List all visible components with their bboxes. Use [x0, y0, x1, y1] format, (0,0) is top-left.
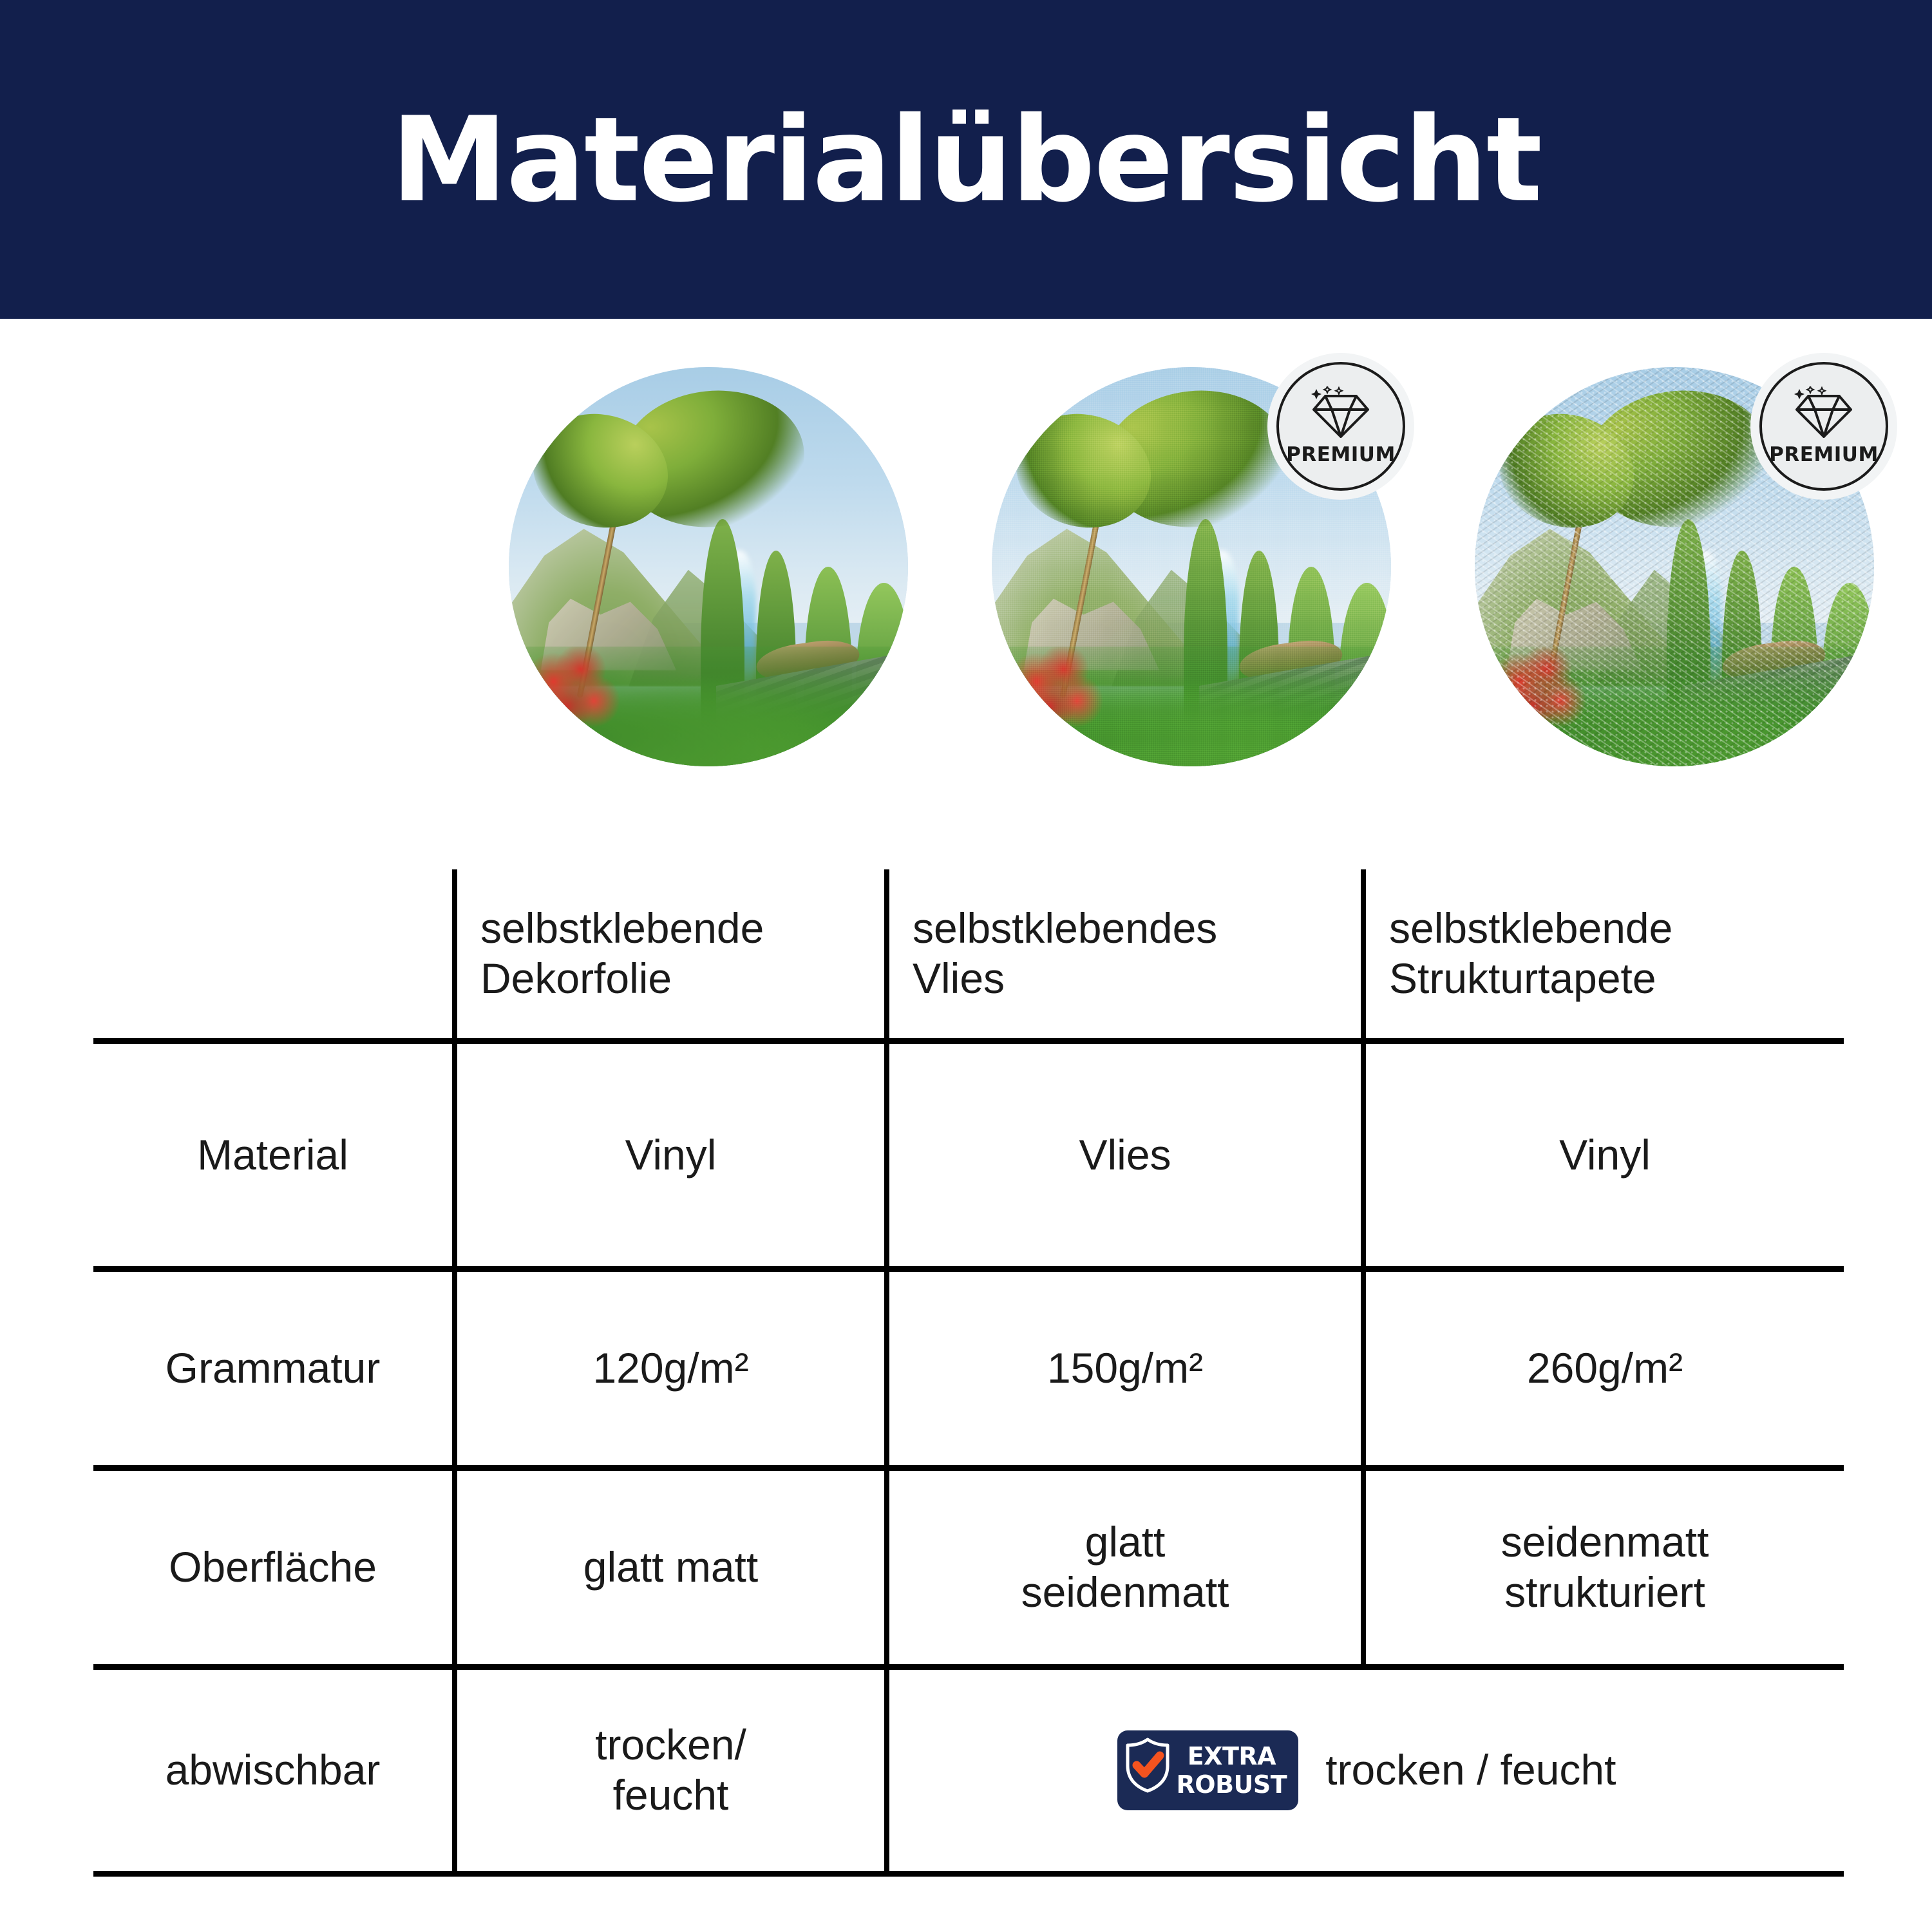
extra-robust-wordmark: EXTRA ROBUST	[1177, 1744, 1287, 1797]
premium-badge: PREMIUM	[1276, 362, 1405, 491]
cell-line1: trocken/	[595, 1720, 746, 1770]
tropical-garden-photo	[509, 367, 908, 766]
cell-line1: glatt	[1021, 1517, 1229, 1567]
column-header-vlies: selbstklebendes Vlies	[884, 869, 1361, 1038]
extra-robust-line1: EXTRA	[1177, 1744, 1287, 1768]
shield-check-icon	[1124, 1737, 1171, 1804]
red-flowers	[525, 647, 621, 734]
cell-oberflaeche-strukturtapete: seidenmatt strukturiert	[1361, 1471, 1844, 1664]
column-header-dekorfolie: selbstklebende Dekorfolie	[452, 869, 884, 1038]
diamond-icon	[1310, 386, 1372, 440]
premium-badge: PREMIUM	[1759, 362, 1888, 491]
cell-grammatur-dekorfolie: 120g/m²	[452, 1272, 884, 1465]
cell-material-dekorfolie: Vinyl	[452, 1044, 884, 1266]
table-row: Grammatur 120g/m² 150g/m² 260g/m²	[93, 1272, 1844, 1471]
column-header-strukturtapete: selbstklebende Strukturtapete	[1361, 869, 1844, 1038]
diamond-icon	[1793, 386, 1855, 440]
cell-oberflaeche-dekorfolie: glatt matt	[452, 1471, 884, 1664]
row-label-material: Material	[93, 1044, 452, 1266]
page-title: Materialübersicht	[391, 101, 1541, 218]
cell-abwischbar-dekorfolie: trocken/ feucht	[452, 1670, 884, 1871]
cell-abwischbar-merged-text: trocken / feucht	[1325, 1745, 1616, 1795]
cell-oberflaeche-vlies: glatt seidenmatt	[884, 1471, 1361, 1664]
column-header-line1: selbstklebende	[480, 904, 764, 954]
table-row: Material Vinyl Vlies Vinyl	[93, 1044, 1844, 1272]
swatch-image-dekorfolie	[509, 367, 908, 766]
row-label-grammatur: Grammatur	[93, 1272, 452, 1465]
row-label-oberflaeche: Oberfläche	[93, 1471, 452, 1664]
cell-grammatur-vlies: 150g/m²	[884, 1272, 1361, 1465]
extra-robust-badge: EXTRA ROBUST	[1117, 1730, 1299, 1811]
column-header-line2: Strukturtapete	[1389, 954, 1672, 1004]
cell-line2: seidenmatt	[1021, 1567, 1229, 1618]
page-header-banner: Materialübersicht	[0, 0, 1932, 319]
premium-badge-label: PREMIUM	[1769, 443, 1879, 466]
swatch-vlies[interactable]: PREMIUM	[992, 367, 1391, 766]
table-row: abwischbar trocken/ feucht EXTRA ROBUST	[93, 1670, 1844, 1877]
column-header-line1: selbstklebendes	[913, 904, 1217, 954]
material-comparison-table: selbstklebende Dekorfolie selbstklebende…	[93, 869, 1844, 1877]
table-row: Oberfläche glatt matt glatt seidenmatt s…	[93, 1471, 1844, 1670]
cell-line2: feucht	[595, 1770, 746, 1821]
cell-abwischbar-merged: EXTRA ROBUST trocken / feucht	[884, 1670, 1844, 1871]
swatch-dekorfolie[interactable]	[509, 367, 908, 766]
cell-grammatur-strukturtapete: 260g/m²	[1361, 1272, 1844, 1465]
swatch-strukturtapete[interactable]: PREMIUM	[1475, 367, 1874, 766]
cell-line1: seidenmatt	[1501, 1517, 1709, 1567]
table-header-row: selbstklebende Dekorfolie selbstklebende…	[93, 869, 1844, 1044]
table-corner-cell	[93, 869, 452, 1038]
row-label-abwischbar: abwischbar	[93, 1670, 452, 1871]
cell-line2: strukturiert	[1501, 1567, 1709, 1618]
column-header-line2: Dekorfolie	[480, 954, 764, 1004]
extra-robust-line2: ROBUST	[1177, 1772, 1287, 1797]
cell-material-vlies: Vlies	[884, 1044, 1361, 1266]
column-header-line2: Vlies	[913, 954, 1217, 1004]
premium-badge-label: PREMIUM	[1286, 443, 1396, 466]
cell-material-strukturtapete: Vinyl	[1361, 1044, 1844, 1266]
column-header-line1: selbstklebende	[1389, 904, 1672, 954]
